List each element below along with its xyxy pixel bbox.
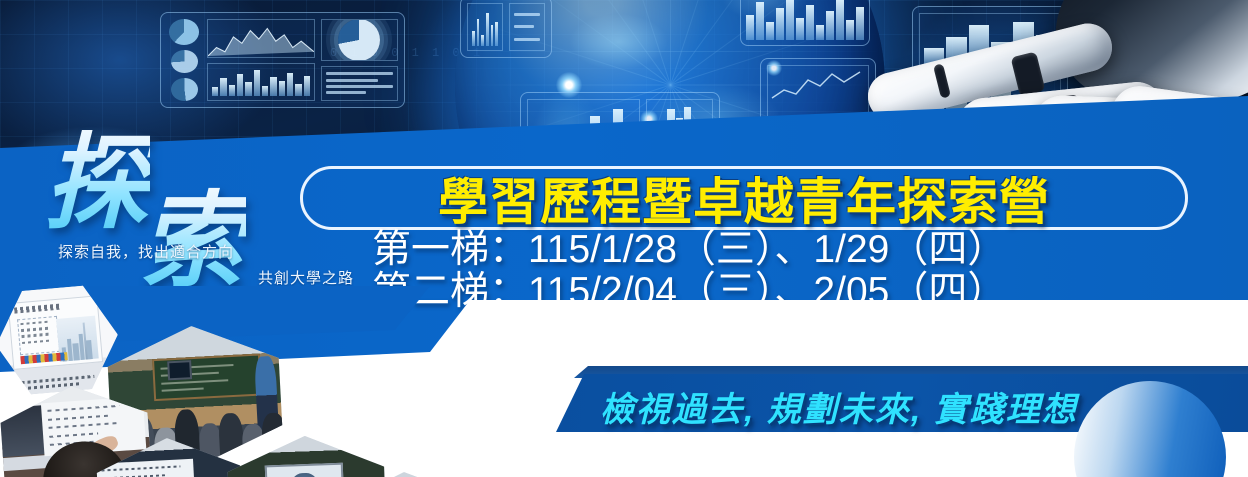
- video-screen: [265, 463, 345, 477]
- bar-chart: [207, 63, 315, 102]
- text-lines-block: [321, 66, 398, 101]
- title-text: 學習歷程暨卓越青年探索營: [438, 162, 1050, 234]
- bar-chart: [467, 3, 503, 51]
- collage-photo-poster: [0, 281, 122, 399]
- hud-dashboard-panel: [160, 12, 405, 108]
- laptop: [0, 405, 48, 457]
- monitor: [167, 360, 192, 381]
- pie-chart-icon: [171, 50, 198, 73]
- pie-chart-icon: [169, 19, 199, 45]
- photo-collage: [0, 288, 494, 477]
- pie-chart-icon: [171, 78, 198, 101]
- headline-char-1: 探: [44, 98, 150, 249]
- date-line-1: 第一梯：115/1/28（三）、1/29（四）: [372, 229, 1006, 271]
- hud-candlestick-panel: [740, 0, 870, 46]
- title-pill: 學習歷程暨卓越青年探索營: [300, 166, 1188, 230]
- donut-chart: [321, 19, 398, 61]
- area-chart: [207, 19, 315, 58]
- subtitle-block: 探索自我，找出適合方向 共創大學之路: [58, 240, 358, 292]
- ring-chart-icon: [338, 19, 380, 61]
- hud-mini-panel: [460, 0, 552, 58]
- slogan-text: 檢視過去, 規劃未來, 實踐理想: [600, 382, 1078, 431]
- promotional-banner: 1 0 1 1 0 0 1 0 0 1 0 0 1 1 0 1 1 1 0 1 …: [0, 0, 1248, 477]
- poster-sheet: [7, 295, 103, 370]
- text-lines-block: [509, 3, 545, 51]
- subtitle-line-1: 探索自我，找出適合方向: [58, 244, 234, 261]
